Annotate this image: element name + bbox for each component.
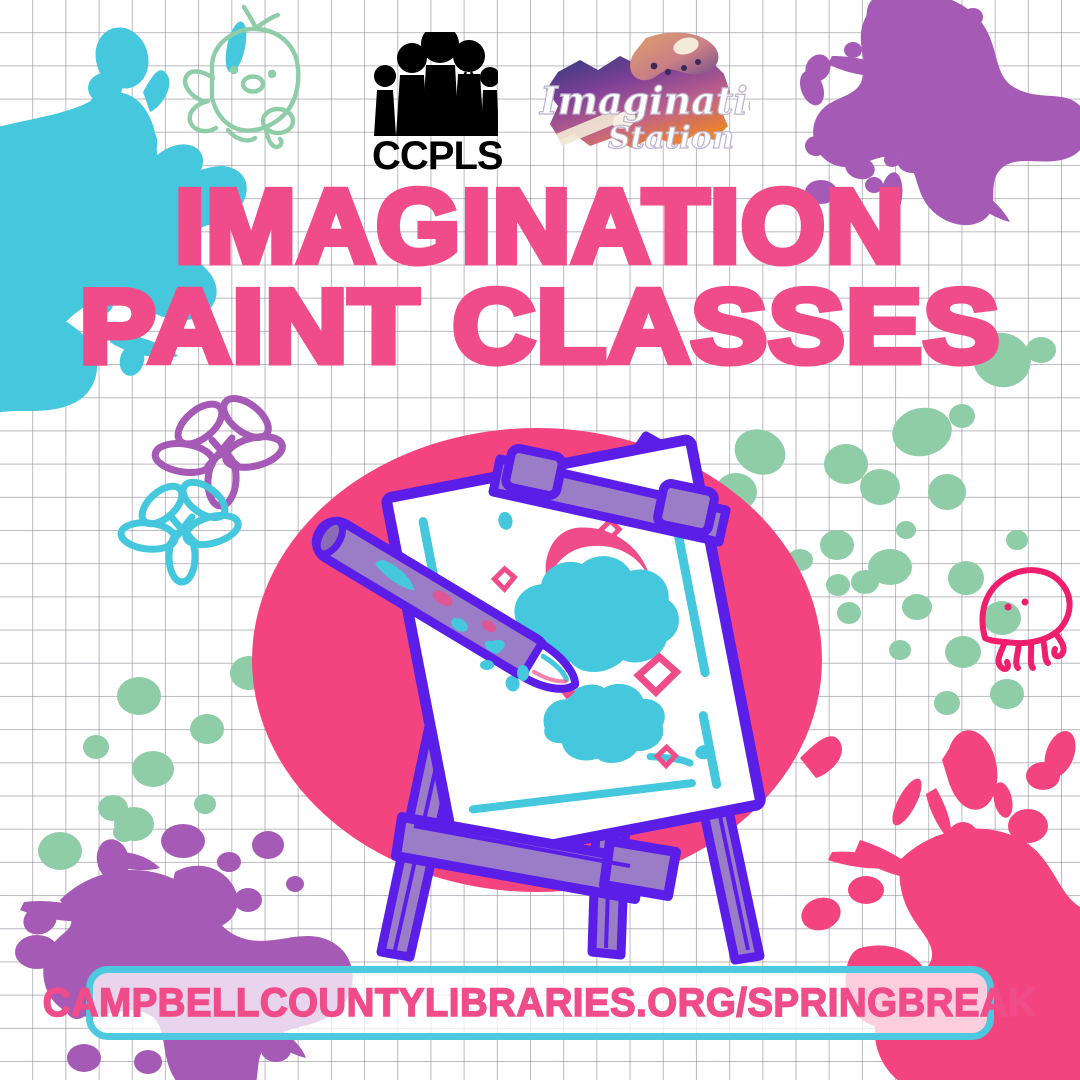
svg-text:Imagination: Imagination (539, 78, 750, 123)
url-banner[interactable]: CAMPBELLCOUNTYLIBRARIES.ORG/SPRINGBREAK (86, 966, 994, 1040)
title-line-2: PAINT CLASSES (0, 282, 1080, 374)
ccpls-logo: CCPLS (372, 32, 498, 187)
title-line-1: IMAGINATION (0, 182, 1080, 274)
imagination-station-logo: Imagination Station (528, 30, 750, 166)
poster-canvas: CCPLS (0, 0, 1080, 1080)
header-logos: CCPLS (0, 24, 1080, 174)
svg-text:Station: Station (608, 120, 734, 156)
page-title: IMAGINATION PAINT CLASSES (0, 182, 1080, 373)
url-text: CAMPBELLCOUNTYLIBRARIES.ORG/SPRINGBREAK (43, 981, 1037, 1026)
